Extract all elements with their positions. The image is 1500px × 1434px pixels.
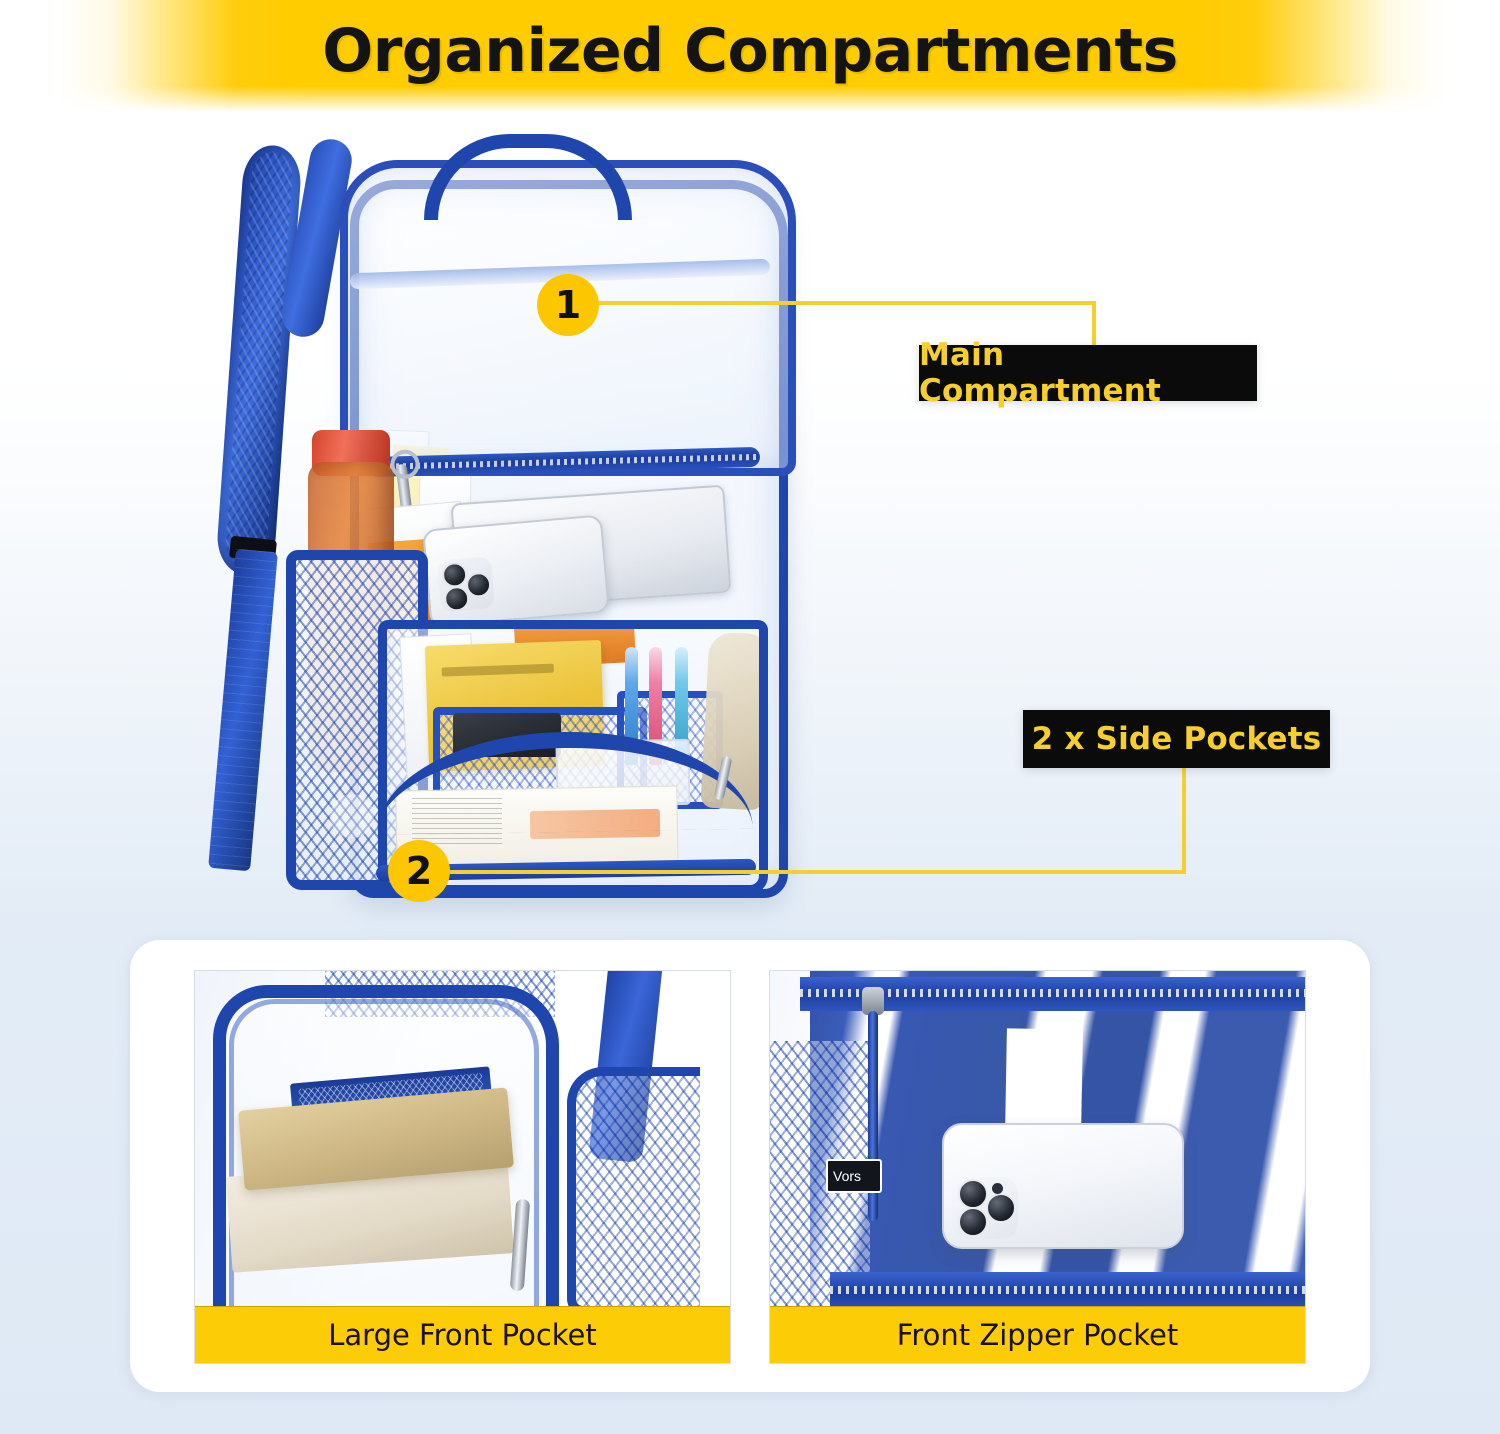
bottom-zipper	[830, 1272, 1305, 1306]
leader-line-1-horizontal	[596, 301, 1096, 305]
callout-badge-2: 2	[388, 840, 450, 902]
detail-panel-large-front-pocket: Large Front Pocket	[194, 970, 731, 1364]
camera-lens-icon	[465, 571, 492, 598]
shoulder-strap-padded	[215, 144, 303, 577]
callout-label-main-compartment: Main Compartment	[919, 345, 1257, 401]
bottom-detail-card: Large Front Pocket Vors	[130, 940, 1370, 1392]
detail-panels: Large Front Pocket Vors	[194, 970, 1306, 1362]
panel-caption-front-zipper-pocket: Front Zipper Pocket	[770, 1306, 1305, 1363]
panel-caption-large-front-pocket: Large Front Pocket	[195, 1306, 730, 1363]
camera-lens-icon	[958, 1179, 988, 1209]
leader-line-2-vertical	[1182, 766, 1186, 874]
camera-lens-icon	[958, 1207, 988, 1237]
callout-label-side-pockets: 2 x Side Pockets	[1023, 710, 1330, 768]
camera-flash-icon	[992, 1183, 1003, 1194]
side-mesh-pocket	[567, 1067, 700, 1306]
brand-label: Vors	[826, 1159, 882, 1193]
carry-handle	[424, 134, 632, 220]
camera-lens-icon	[986, 1193, 1016, 1223]
infographic-page: Organized Compartments	[0, 0, 1500, 1434]
callout-badge-1: 1	[537, 274, 599, 336]
camera-lens-icon	[441, 561, 468, 588]
mesh-pocket-logo	[330, 794, 374, 838]
smartphone-device	[942, 1123, 1184, 1249]
backpack-illustration	[200, 120, 880, 920]
leader-line-2-horizontal	[448, 870, 1186, 874]
large-front-pocket-photo	[195, 971, 730, 1306]
detail-panel-front-zipper-pocket: Vors Front Zipper Pocket	[769, 970, 1306, 1364]
front-zipper-pocket-photo: Vors	[770, 971, 1305, 1306]
shoulder-strap-webbing	[208, 549, 278, 871]
camera-module	[437, 556, 495, 613]
camera-module	[952, 1177, 1018, 1239]
hero-section: 1 2 Main Compartment 2 x Side Pockets	[0, 100, 1500, 940]
page-title: Organized Compartments	[0, 16, 1500, 86]
book-title-bar	[442, 664, 554, 677]
smartphone-device	[422, 514, 610, 626]
white-insert-card	[1005, 1028, 1083, 1133]
